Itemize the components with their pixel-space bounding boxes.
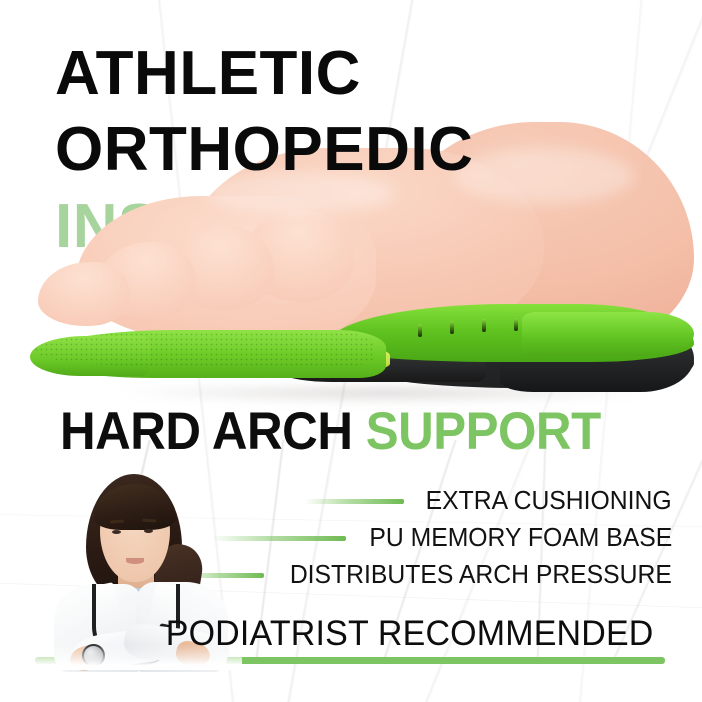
doctor-eyebrow xyxy=(142,519,156,523)
insole-vent-hole xyxy=(450,321,454,334)
insole-vent-hole xyxy=(418,324,422,337)
insole-green-arch xyxy=(330,304,694,362)
feature-rule-icon xyxy=(180,573,264,578)
foot-highlight xyxy=(204,172,394,214)
doctor-mouth xyxy=(126,558,144,564)
doctor-eye xyxy=(144,529,153,533)
doctor-hair xyxy=(86,474,182,600)
feature-label: DISTRIBUTES ARCH PRESSURE xyxy=(290,561,672,590)
doctor-eyebrow xyxy=(110,520,124,524)
doctor-hair-front xyxy=(94,484,176,530)
feature-item: EXTRA CUSHIONING xyxy=(180,486,672,517)
doctor-arm-left xyxy=(70,625,170,672)
foot-toe xyxy=(242,210,354,302)
subheadline-block: HARD ARCH SUPPORT xyxy=(60,403,601,461)
doctor-eye xyxy=(112,530,121,534)
headline-line-2: ORTHOPEDIC xyxy=(55,112,473,188)
insole-toe-tip xyxy=(30,336,150,376)
footer-badge-label: PODIATRIST RECOMMENDED xyxy=(49,614,653,654)
feature-rule-icon xyxy=(304,499,404,504)
subheadline-green-text: SUPPORT xyxy=(366,402,601,461)
foot-highlight xyxy=(454,148,634,204)
headline-line-1: ATHLETIC xyxy=(55,36,473,112)
insole-base-arch xyxy=(360,316,694,388)
foot-toe xyxy=(38,262,130,326)
insole-base-heel xyxy=(500,326,694,392)
footer-badge: PODIATRIST RECOMMENDED xyxy=(0,614,702,654)
insole-green-heel xyxy=(522,312,694,356)
doctor-coat-lapel xyxy=(88,582,125,648)
doctor-coat-lapel xyxy=(144,582,181,648)
foot-forefoot xyxy=(76,196,376,346)
foot-toe xyxy=(96,242,196,318)
insole-foam-layer xyxy=(90,348,390,370)
insole-base-forefoot xyxy=(266,342,486,382)
feature-item: PU MEMORY FOAM BASE xyxy=(180,523,672,554)
insole-surface-texture xyxy=(34,332,374,366)
footer-accent-bar xyxy=(35,657,665,664)
doctor-neck xyxy=(118,570,154,600)
feature-rule-icon xyxy=(211,536,346,541)
product-photo xyxy=(0,120,702,405)
doctor-face xyxy=(100,494,170,582)
foot-toe xyxy=(166,226,274,310)
foot-heel xyxy=(394,122,694,354)
feature-list: EXTRA CUSHIONING PU MEMORY FOAM BASE DIS… xyxy=(180,486,672,597)
headline-block: ATHLETIC ORTHOPEDIC xyxy=(55,36,473,188)
product-advertisement: INSOLES xyxy=(0,0,702,702)
insole-vent-hole xyxy=(482,319,486,332)
foot-image xyxy=(34,122,694,360)
headline-line-3: INSOLES xyxy=(55,189,331,265)
feature-label: PU MEMORY FOAM BASE xyxy=(369,524,672,553)
stethoscope-clip xyxy=(156,623,171,645)
feature-item: DISTRIBUTES ARCH PRESSURE xyxy=(180,560,672,591)
insole-top-layer xyxy=(30,302,694,364)
insole-green-forefoot xyxy=(36,330,386,378)
insole-product xyxy=(30,302,694,398)
foot-midfoot xyxy=(184,148,544,346)
feature-label: EXTRA CUSHIONING xyxy=(426,487,672,516)
stethoscope-tube-icon xyxy=(92,584,180,666)
doctor-hand-right xyxy=(174,639,212,670)
insole-shadow xyxy=(70,388,700,404)
subheadline-dark-text: HARD ARCH xyxy=(60,402,352,461)
insole-vent-hole xyxy=(514,318,518,331)
